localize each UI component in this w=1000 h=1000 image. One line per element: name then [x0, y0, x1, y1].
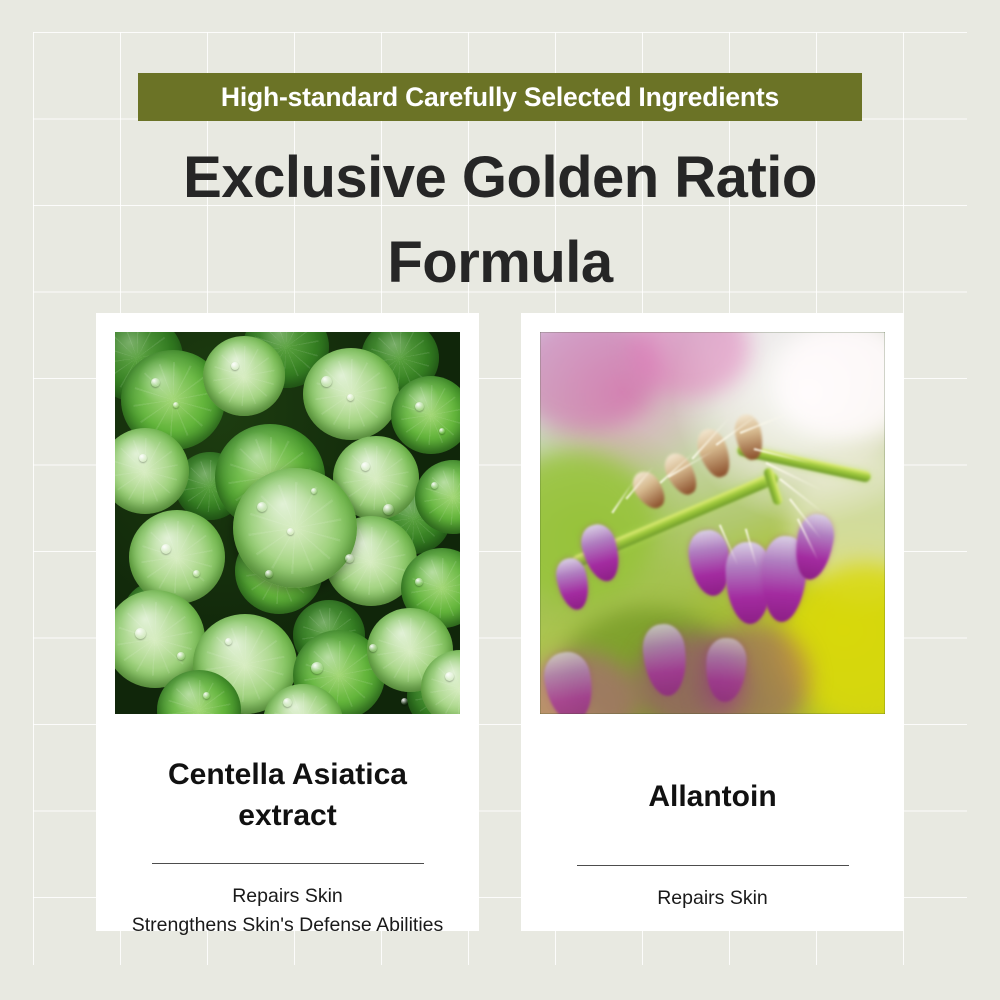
ingredient-card-allantoin: Allantoin Repairs Skin — [521, 313, 904, 931]
ingredient-title: Centella Asiatica extract — [120, 714, 455, 836]
ingredient-benefits: Repairs Skin Strengthens Skin's Defense … — [120, 882, 455, 939]
benefit-item: Repairs Skin — [120, 882, 455, 911]
ingredient-card-centella-asiatica: Centella Asiatica extract Repairs Skin S… — [96, 313, 479, 931]
title-divider — [577, 865, 849, 866]
section-banner: High-standard Carefully Selected Ingredi… — [138, 73, 862, 121]
card-body: Allantoin Repairs Skin — [521, 714, 904, 913]
card-body: Centella Asiatica extract Repairs Skin S… — [96, 714, 479, 940]
leaf-scene — [115, 332, 460, 714]
ingredient-benefits: Repairs Skin — [545, 884, 880, 913]
flower-scene — [540, 332, 885, 714]
centella-asiatica-leaves-photo — [115, 332, 460, 714]
banner-label: High-standard Carefully Selected Ingredi… — [221, 82, 779, 113]
title-divider — [152, 863, 424, 864]
page-title: Exclusive Golden Ratio Formula — [100, 136, 900, 305]
benefit-item: Repairs Skin — [545, 884, 880, 913]
comfrey-flower-photo — [540, 332, 885, 714]
ingredient-title: Allantoin — [545, 714, 880, 817]
ingredient-infographic: High-standard Carefully Selected Ingredi… — [0, 0, 1000, 1000]
benefit-item: Strengthens Skin's Defense Abilities — [120, 911, 455, 940]
